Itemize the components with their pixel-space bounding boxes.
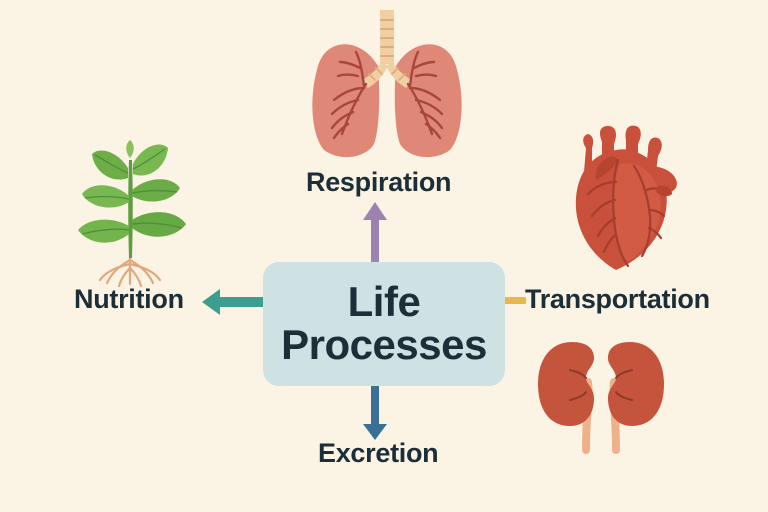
label-transportation[interactable]: Transportation [525, 284, 710, 315]
heart-anatomical-icon [556, 124, 692, 281]
connector-transportation [504, 297, 526, 304]
plant-seedling-icon [62, 138, 198, 293]
arrow-nutrition [200, 288, 264, 321]
lungs-icon [298, 8, 476, 169]
page-title: Life Processes [263, 281, 505, 367]
arrow-respiration [361, 200, 389, 267]
label-excretion[interactable]: Excretion [318, 438, 438, 469]
kidneys-icon [528, 328, 674, 461]
label-nutrition[interactable]: Nutrition [74, 284, 184, 315]
diagram-canvas: Life Processes Nutrition Respiration Tra… [0, 0, 768, 512]
center-node-life-processes[interactable]: Life Processes [263, 262, 505, 386]
label-respiration[interactable]: Respiration [306, 167, 451, 198]
